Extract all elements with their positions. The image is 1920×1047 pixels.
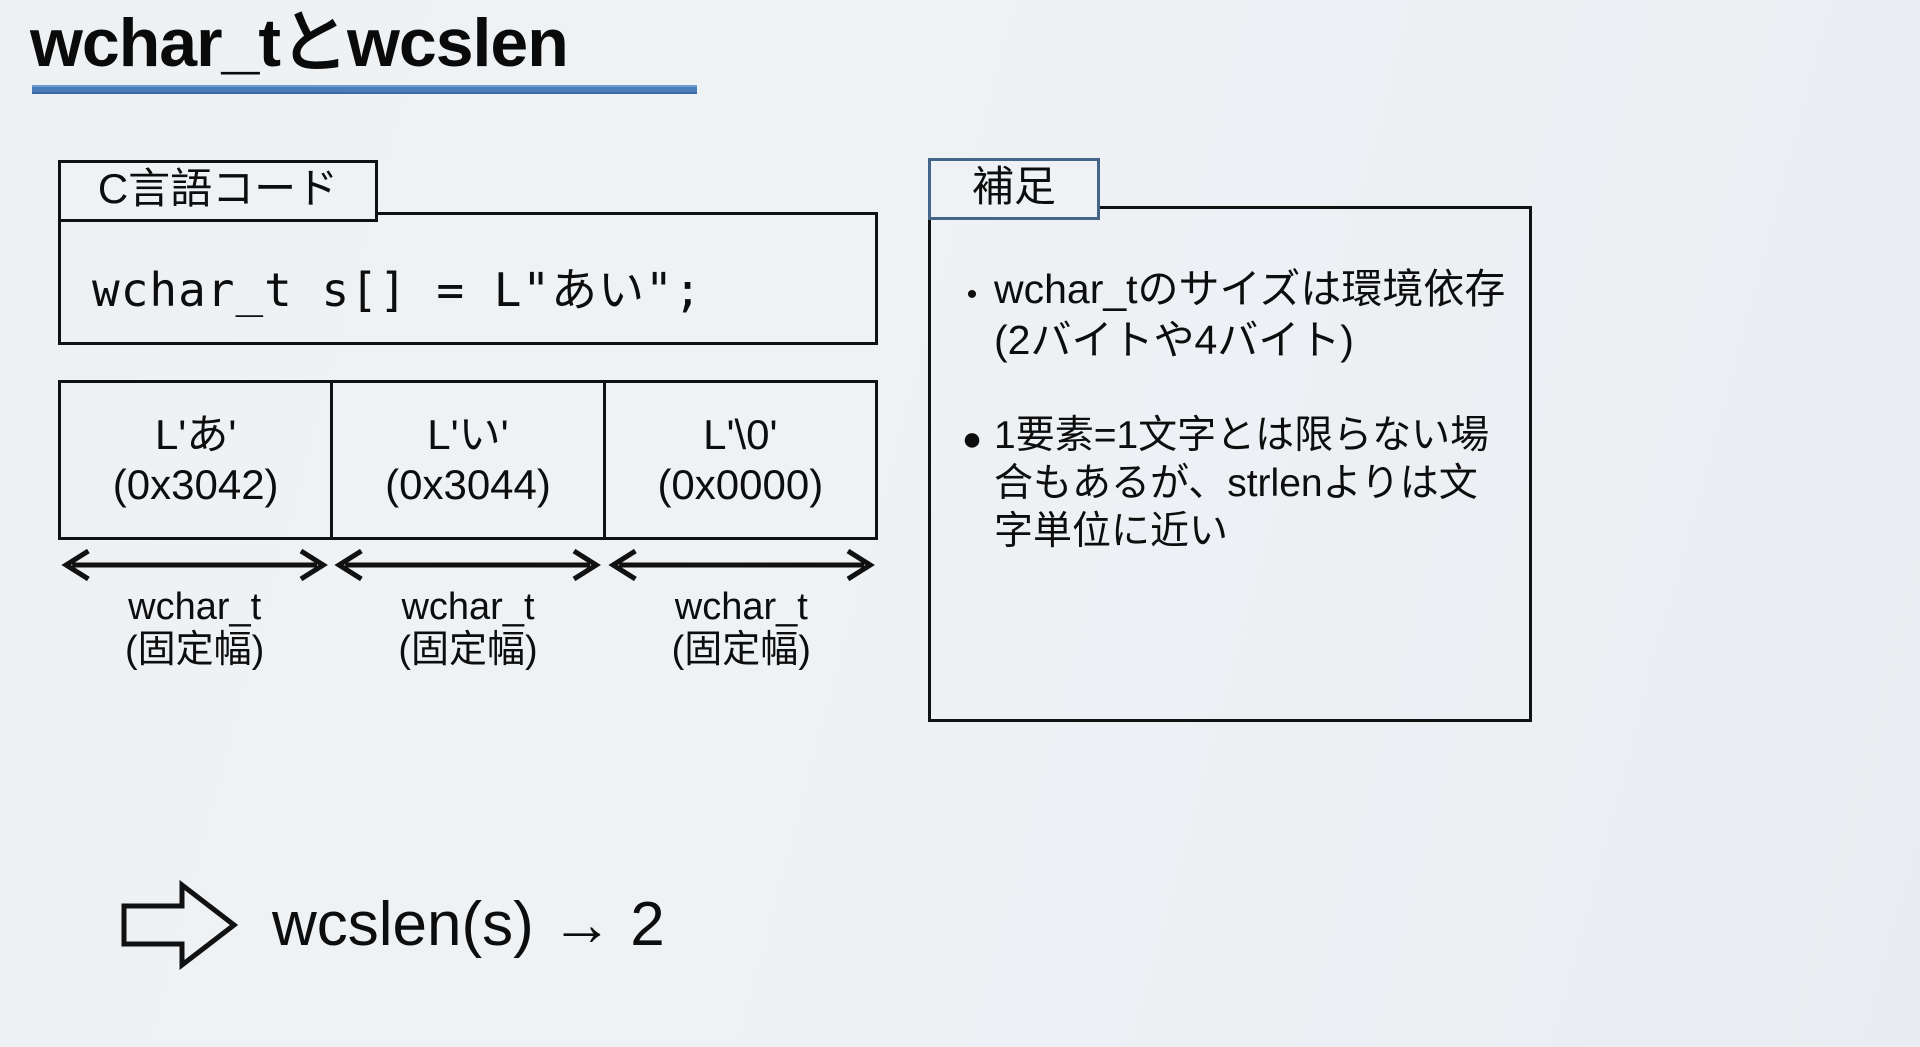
memory-cell-hex: (0x0000) [657, 460, 823, 510]
note-list: • wchar_tのサイズは環境依存(2バイトや4バイト) ● 1要素=1文字と… [950, 264, 1514, 603]
double-headed-arrow-icon [58, 548, 331, 582]
double-headed-arrow-icon [605, 548, 878, 582]
bullet-large-icon: ● [950, 412, 994, 456]
width-measure-sub: (固定幅) [125, 629, 264, 672]
memory-cell-literal: L'\0' [703, 410, 777, 460]
note-panel-label: 補足 [972, 166, 1056, 208]
note-panel-label-tab: 補足 [928, 158, 1100, 220]
page-title: wchar_tとwcslen [30, 8, 890, 79]
list-item: ● 1要素=1文字とは限らない場合もあるが、strlenよりは文字単位に近い [950, 412, 1514, 557]
code-panel-label-tab: C言語コード [58, 160, 378, 222]
memory-cell: L'あ' (0x3042) [61, 383, 333, 537]
width-measure-sub: (固定幅) [672, 629, 811, 672]
double-headed-arrow-icon [331, 548, 604, 582]
width-measure-name: wchar_t [128, 586, 261, 629]
bullet-small-icon: • [950, 264, 994, 310]
memory-cell: L'\0' (0x0000) [606, 383, 875, 537]
block-arrow-right-icon [120, 880, 238, 970]
slide-canvas: wchar_tとwcslen C言語コード wchar_t s[] = L"あい… [0, 0, 1920, 1047]
memory-cell-table: L'あ' (0x3042) L'い' (0x3044) L'\0' (0x000… [58, 380, 878, 540]
memory-cell-hex: (0x3044) [385, 460, 551, 510]
result-text: wcslen(s) → 2 [272, 894, 665, 956]
result-row: wcslen(s) → 2 [120, 880, 665, 970]
note-item-text: wchar_tのサイズは環境依存(2バイトや4バイト) [994, 264, 1514, 366]
memory-cell-hex: (0x3042) [113, 460, 279, 510]
title-block: wchar_tとwcslen [30, 8, 890, 94]
memory-cell-literal: L'い' [427, 410, 508, 460]
width-measure-name: wchar_t [675, 586, 808, 629]
width-measure-name: wchar_t [401, 586, 534, 629]
width-measure: wchar_t (固定幅) [605, 548, 878, 671]
width-measure: wchar_t (固定幅) [331, 548, 604, 671]
width-measure-row: wchar_t (固定幅) wchar_t (固定幅) [58, 548, 878, 671]
code-panel-label: C言語コード [98, 168, 338, 210]
code-panel: C言語コード wchar_t s[] = L"あい"; [58, 160, 878, 345]
list-item: • wchar_tのサイズは環境依存(2バイトや4バイト) [950, 264, 1514, 366]
width-measure: wchar_t (固定幅) [58, 548, 331, 671]
title-underline-rule [32, 85, 697, 94]
memory-cell: L'い' (0x3044) [333, 383, 605, 537]
memory-cell-literal: L'あ' [155, 410, 236, 460]
note-panel: 補足 • wchar_tのサイズは環境依存(2バイトや4バイト) ● 1要素=1… [928, 158, 1532, 722]
code-snippet: wchar_t s[] = L"あい"; [92, 254, 703, 320]
note-item-text: 1要素=1文字とは限らない場合もあるが、strlenよりは文字単位に近い [994, 412, 1514, 557]
width-measure-sub: (固定幅) [398, 629, 537, 672]
